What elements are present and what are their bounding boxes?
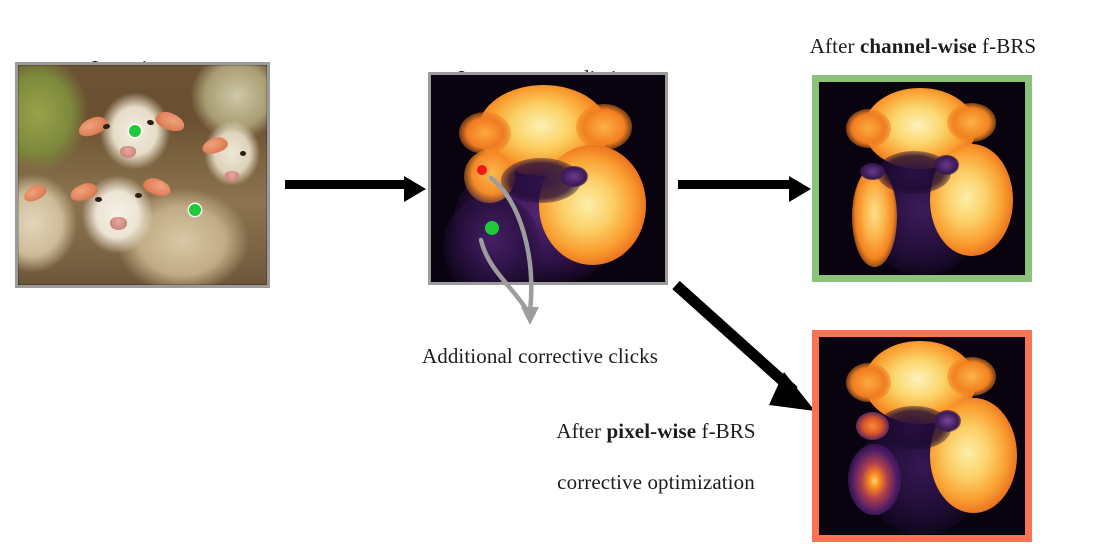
caption-pixel-wise-suffix: f-BRS (696, 419, 756, 443)
heatmap-region-ear (947, 103, 996, 142)
sheep-eye (240, 151, 246, 156)
panel-channel-wise-result (812, 75, 1032, 282)
caption-pixel-wise-bold: pixel-wise (606, 419, 696, 443)
label-additional-corrective-clicks: Additional corrective clicks (390, 318, 690, 369)
heatmap-region-ear (459, 112, 510, 153)
additional-corrective-clicks-text: Additional corrective clicks (422, 344, 658, 368)
lamb-muzzle (110, 217, 127, 230)
caption-pixel-wise-result: After pixel-wise f-BRS corrective optimi… (525, 393, 787, 495)
heatmap-residual-artifact (848, 444, 902, 515)
heatmap-spot (934, 410, 961, 432)
arrow-input-to-prediction (285, 180, 405, 189)
lamb-eye (135, 193, 142, 198)
heatmap-region-ear (846, 363, 891, 403)
caption-channel-wise-bold: channel-wise (860, 34, 977, 58)
caption-pixel-wise-prefix: After (556, 419, 606, 443)
heatmap-spot (934, 155, 959, 174)
arrow-prediction-to-channel-wise (678, 180, 790, 189)
figure-root: Input image (0, 0, 1102, 551)
panel-input-image (15, 62, 270, 288)
caption-channel-wise-suffix: f-BRS (977, 34, 1037, 58)
sheep-muzzle (225, 171, 239, 182)
input-image-content (18, 65, 267, 285)
positive-click-marker-1[interactable] (129, 125, 141, 137)
heatmap-region-ear (846, 109, 891, 148)
channel-wise-heatmap (819, 82, 1025, 275)
positive-click-marker-2[interactable] (189, 204, 201, 216)
caption-pixel-wise-line2: corrective optimization (557, 470, 755, 494)
heatmap-spot-orange-ring (856, 412, 889, 440)
panel-pixel-wise-result (812, 330, 1032, 542)
heatmap-region-ear (576, 104, 632, 150)
heatmap-region-ear (947, 357, 996, 397)
pixel-wise-heatmap (819, 337, 1025, 535)
additional-clicks-pointer (468, 170, 608, 330)
caption-channel-wise-prefix: After (810, 34, 860, 58)
